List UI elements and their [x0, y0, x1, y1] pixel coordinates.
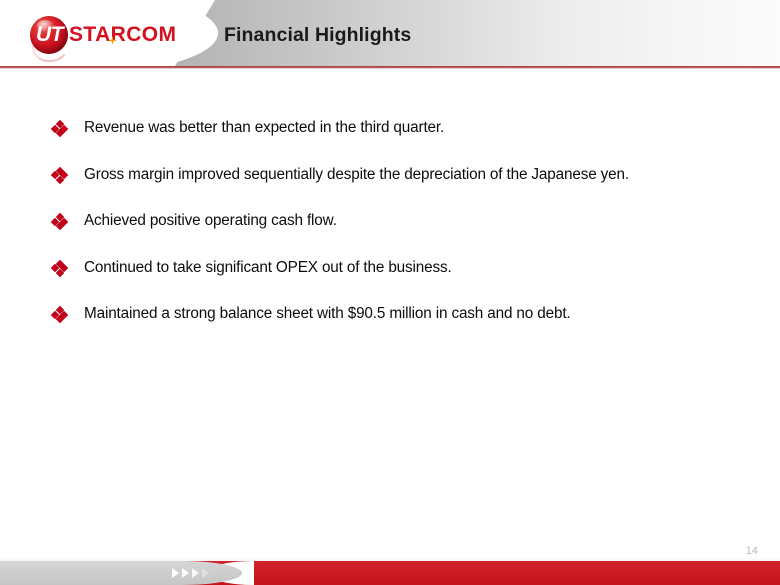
logo-mark-text: UT — [36, 24, 63, 45]
list-item: Revenue was better than expected in the … — [52, 117, 762, 141]
slide-footer — [0, 561, 780, 585]
list-item-label: Revenue was better than expected in the … — [84, 119, 444, 136]
list-item-label: Achieved positive operating cash flow. — [84, 212, 337, 229]
page-number: 14 — [746, 545, 758, 557]
diamond-cluster-bullet-icon — [52, 214, 67, 229]
diamond-cluster-bullet-icon — [52, 261, 67, 276]
list-item: Continued to take significant OPEX out o… — [52, 257, 762, 281]
diamond-cluster-bullet-icon — [52, 121, 67, 136]
triple-chevron-right-icon — [172, 568, 209, 578]
diamond-cluster-bullet-icon — [52, 307, 67, 322]
slide-body: Revenue was better than expected in the … — [0, 68, 780, 540]
utstarcom-logo: UT STARCOM — [30, 15, 200, 55]
list-item: Gross margin improved sequentially despi… — [52, 164, 762, 188]
logo-word-text: STARCOM — [69, 24, 176, 45]
slide: UT STARCOM Financial Highlights Revenue … — [0, 0, 780, 585]
list-item-label: Gross margin improved sequentially despi… — [84, 166, 629, 183]
page-title: Financial Highlights — [224, 24, 411, 47]
diamond-cluster-bullet-icon — [52, 168, 67, 183]
list-item: Maintained a strong balance sheet with $… — [52, 303, 762, 327]
bullet-list: Revenue was better than expected in the … — [52, 117, 762, 350]
list-item-label: Maintained a strong balance sheet with $… — [84, 305, 571, 322]
list-item-label: Continued to take significant OPEX out o… — [84, 259, 452, 276]
slide-header: UT STARCOM Financial Highlights — [0, 0, 780, 68]
list-item: Achieved positive operating cash flow. — [52, 210, 762, 234]
